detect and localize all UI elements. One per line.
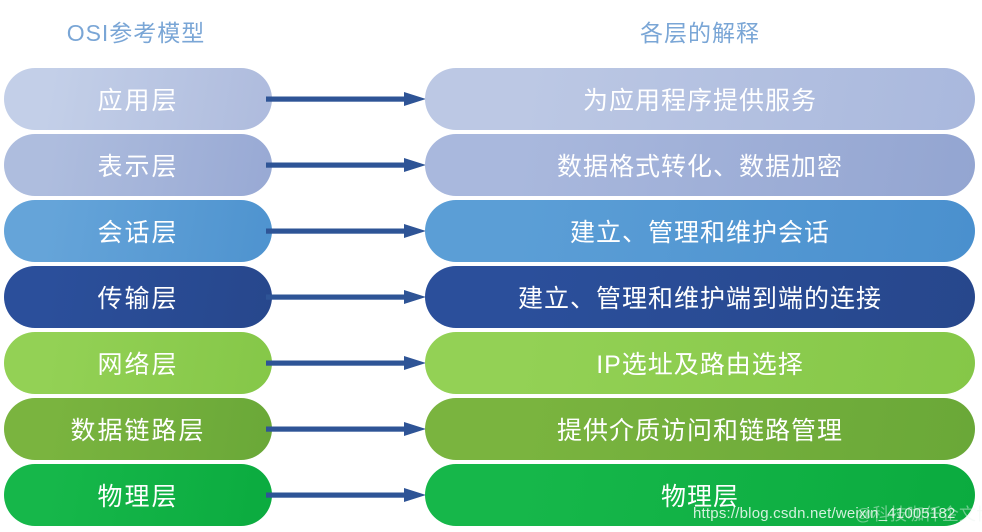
- layer-name-label: 网络层: [97, 345, 178, 381]
- layer-name-label: 物理层: [97, 477, 178, 513]
- arrow-right-icon: [266, 422, 426, 436]
- arrow-right-icon: [266, 224, 426, 238]
- column-header-osi-model: OSI参考模型: [0, 14, 272, 48]
- layer-description-label: 数据格式转化、数据加密: [557, 147, 843, 183]
- osi-layer-row: 数据链路层提供介质访问和链路管理: [0, 398, 982, 460]
- layer-description-label: 建立、管理和维护会话: [570, 213, 830, 249]
- layer-name-box: 表示层: [4, 134, 272, 196]
- layer-name-label: 数据链路层: [70, 411, 205, 447]
- layer-name-box: 网络层: [4, 332, 272, 394]
- layer-description-label: 为应用程序提供服务: [583, 81, 817, 117]
- layer-description-box: 物理层: [425, 464, 975, 526]
- osi-layer-row: 网络层IP选址及路由选择: [0, 332, 982, 394]
- layer-description-box: IP选址及路由选择: [425, 332, 975, 394]
- layer-description-label: 提供介质访问和链路管理: [557, 411, 843, 447]
- osi-layer-row: 表示层数据格式转化、数据加密: [0, 134, 982, 196]
- osi-model-diagram: OSI参考模型 各层的解释 应用层为应用程序提供服务表示层数据格式转化、数据加密…: [0, 0, 982, 532]
- layer-name-label: 传输层: [97, 279, 178, 315]
- arrow-right-icon: [266, 488, 426, 502]
- layer-name-label: 表示层: [97, 147, 178, 183]
- layer-description-box: 为应用程序提供服务: [425, 68, 975, 130]
- layer-name-box: 数据链路层: [4, 398, 272, 460]
- osi-layer-row: 应用层为应用程序提供服务: [0, 68, 982, 130]
- layer-name-label: 会话层: [97, 213, 178, 249]
- layer-name-box: 会话层: [4, 200, 272, 262]
- layer-description-label: 物理层: [661, 477, 739, 513]
- layer-description-box: 提供介质访问和链路管理: [425, 398, 975, 460]
- arrow-right-icon: [266, 290, 426, 304]
- layer-description-box: 建立、管理和维护端到端的连接: [425, 266, 975, 328]
- layer-description-box: 数据格式转化、数据加密: [425, 134, 975, 196]
- column-header-layer-explanation: 各层的解释: [425, 14, 975, 48]
- layer-description-label: 建立、管理和维护端到端的连接: [518, 279, 882, 315]
- layer-name-box: 传输层: [4, 266, 272, 328]
- osi-layer-row: 传输层建立、管理和维护端到端的连接: [0, 266, 982, 328]
- osi-layer-row: 会话层建立、管理和维护会话: [0, 200, 982, 262]
- arrow-right-icon: [266, 92, 426, 106]
- arrow-right-icon: [266, 356, 426, 370]
- osi-layer-row: 物理层物理层: [0, 464, 982, 526]
- layer-name-box: 物理层: [4, 464, 272, 526]
- layer-name-label: 应用层: [97, 81, 178, 117]
- layer-description-box: 建立、管理和维护会话: [425, 200, 975, 262]
- arrow-right-icon: [266, 158, 426, 172]
- layer-description-label: IP选址及路由选择: [596, 345, 804, 381]
- layer-name-box: 应用层: [4, 68, 272, 130]
